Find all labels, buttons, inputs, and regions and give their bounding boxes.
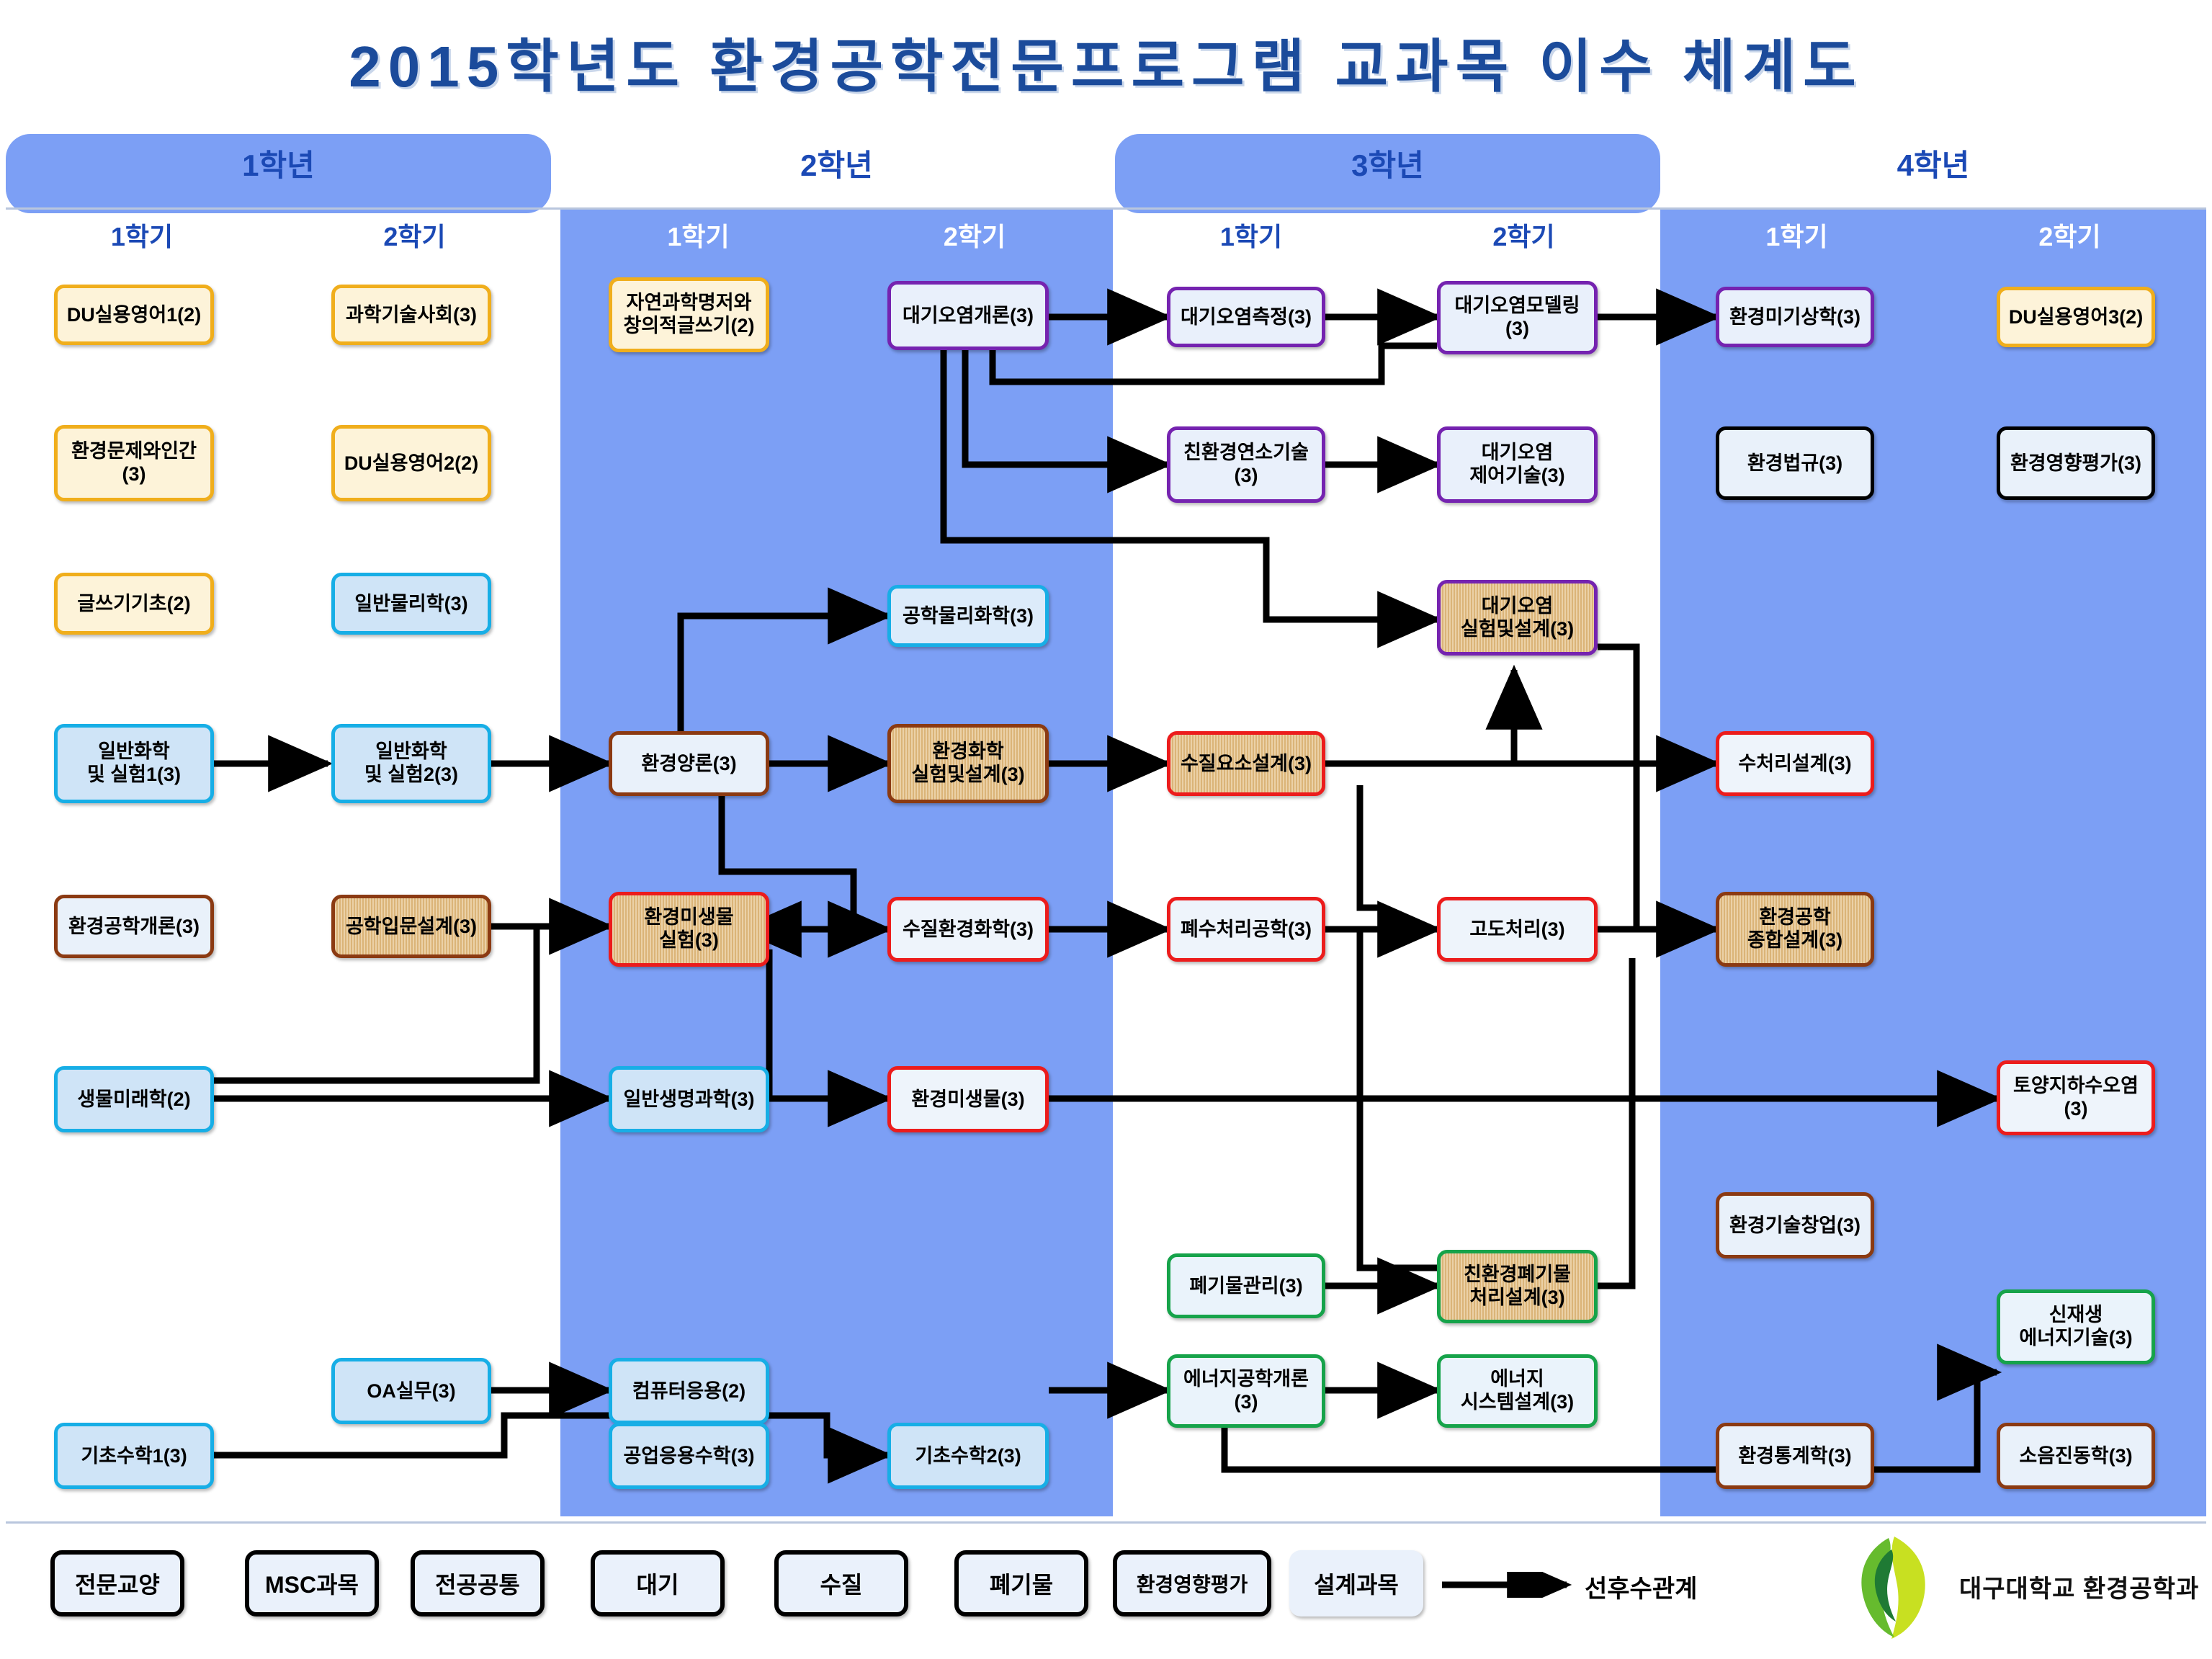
course-box[interactable]: 일반화학 및 실험1(3) bbox=[54, 724, 214, 803]
course-box[interactable]: 기초수학1(3) bbox=[54, 1423, 214, 1489]
course-box[interactable]: 일반화학 및 실험2(3) bbox=[331, 724, 491, 803]
legend-item-design[interactable]: 설계과목 bbox=[1289, 1550, 1423, 1616]
course-box[interactable]: 대기오염모델링 (3) bbox=[1437, 281, 1598, 354]
course-box[interactable]: 환경양론(3) bbox=[609, 731, 769, 796]
course-box[interactable]: 공업응용수학(3) bbox=[609, 1423, 769, 1489]
course-box[interactable]: 환경미생물(3) bbox=[887, 1066, 1049, 1132]
sem-label-y2s2: 2학기 bbox=[836, 216, 1113, 254]
legend-item-common[interactable]: 전공공통 bbox=[411, 1550, 545, 1616]
year-label-1: 1학년 bbox=[6, 141, 551, 185]
course-box[interactable]: 일반생명과학(3) bbox=[609, 1066, 769, 1132]
course-box[interactable]: 환경미기상학(3) bbox=[1716, 287, 1874, 347]
university-logo-text: 대구대학교 환경공학과 bbox=[1959, 1569, 2199, 1604]
course-box[interactable]: 대기오염 제어기술(3) bbox=[1437, 426, 1598, 503]
course-box[interactable]: 토양지하수오염 (3) bbox=[1997, 1060, 2155, 1135]
year-label-3: 3학년 bbox=[1115, 141, 1660, 185]
course-box[interactable]: 기초수학2(3) bbox=[887, 1423, 1049, 1489]
course-box[interactable]: 환경공학 종합설계(3) bbox=[1716, 892, 1874, 967]
course-box[interactable]: 수질환경화학(3) bbox=[887, 897, 1049, 962]
course-box[interactable]: 환경기술창업(3) bbox=[1716, 1192, 1874, 1258]
course-box[interactable]: 대기오염 실험및설계(3) bbox=[1437, 580, 1598, 656]
legend-item-air[interactable]: 대기 bbox=[591, 1550, 725, 1616]
course-box[interactable]: 수질요소설계(3) bbox=[1167, 731, 1325, 796]
course-box[interactable]: 소음진동학(3) bbox=[1997, 1423, 2155, 1489]
sem-label-y3s2: 2학기 bbox=[1387, 216, 1660, 254]
course-box[interactable]: 대기오염측정(3) bbox=[1167, 287, 1325, 347]
course-box[interactable]: 대기오염개론(3) bbox=[887, 281, 1049, 350]
course-box[interactable]: 에너지 시스템설계(3) bbox=[1437, 1354, 1598, 1428]
course-box[interactable]: 환경법규(3) bbox=[1716, 426, 1874, 500]
course-box[interactable]: DU실용영어2(2) bbox=[331, 425, 491, 501]
course-box[interactable]: 환경미생물 실험(3) bbox=[609, 892, 769, 967]
sem-label-y4s2: 2학기 bbox=[1933, 216, 2206, 254]
course-box[interactable]: 환경화학 실험및설계(3) bbox=[887, 724, 1049, 803]
course-box[interactable]: 과학기술사회(3) bbox=[331, 285, 491, 345]
course-box[interactable]: 폐수처리공학(3) bbox=[1167, 897, 1325, 962]
year-label-4: 4학년 bbox=[1660, 141, 2206, 185]
legend-arrow-label: 선후수관계 bbox=[1585, 1569, 1697, 1604]
course-box[interactable]: 일반물리학(3) bbox=[331, 573, 491, 635]
course-box[interactable]: 환경통계학(3) bbox=[1716, 1423, 1874, 1489]
course-box[interactable]: 에너지공학개론 (3) bbox=[1167, 1354, 1325, 1428]
curriculum-flowchart: 1학년 2학년 3학년 4학년 1학기 2학기 1학기 2학기 1학기 2학기 … bbox=[0, 0, 2212, 1659]
year-band-2 bbox=[560, 209, 1113, 1516]
legend-divider bbox=[6, 1521, 2206, 1524]
course-box[interactable]: 글쓰기기초(2) bbox=[54, 573, 214, 635]
legend-item-waste[interactable]: 폐기물 bbox=[954, 1550, 1088, 1616]
course-box[interactable]: DU실용영어1(2) bbox=[54, 285, 214, 345]
course-box[interactable]: 환경영향평가(3) bbox=[1997, 426, 2155, 500]
university-logo-icon bbox=[1844, 1534, 1945, 1642]
legend-item-gyoyang[interactable]: 전문교양 bbox=[50, 1550, 184, 1616]
legend-item-water[interactable]: 수질 bbox=[774, 1550, 908, 1616]
sem-label-y4s1: 1학기 bbox=[1660, 216, 1933, 254]
sem-label-y1s1: 1학기 bbox=[6, 216, 278, 254]
course-box[interactable]: 자연과학명저와 창의적글쓰기(2) bbox=[609, 277, 769, 352]
course-box[interactable]: 고도처리(3) bbox=[1437, 897, 1598, 962]
course-box[interactable]: 친환경연소기술 (3) bbox=[1167, 426, 1325, 503]
header-divider bbox=[6, 207, 2206, 210]
course-box[interactable]: 공학물리화학(3) bbox=[887, 585, 1049, 647]
course-box[interactable]: 생물미래학(2) bbox=[54, 1066, 214, 1132]
legend-item-msc[interactable]: MSC과목 bbox=[245, 1550, 379, 1616]
course-box[interactable]: 환경공학개론(3) bbox=[54, 895, 214, 958]
course-box[interactable]: 폐기물관리(3) bbox=[1167, 1253, 1325, 1318]
course-box[interactable]: 환경문제와인간 (3) bbox=[54, 425, 214, 501]
page-title: 2015학년도 환경공학전문프로그램 교과목 이수 체계도 bbox=[0, 20, 2212, 104]
sem-label-y2s1: 1학기 bbox=[560, 216, 836, 254]
sem-label-y1s2: 2학기 bbox=[278, 216, 551, 254]
year-label-2: 2학년 bbox=[560, 141, 1113, 185]
course-box[interactable]: 수처리설계(3) bbox=[1716, 731, 1874, 796]
course-box[interactable]: 친환경폐기물 처리설계(3) bbox=[1437, 1250, 1598, 1323]
course-box[interactable]: OA실무(3) bbox=[331, 1358, 491, 1424]
legend-arrow-icon bbox=[1441, 1572, 1577, 1598]
legend: 전문교양 MSC과목 전공공통 대기 수질 폐기물 환경영향평가 설계과목 선후… bbox=[0, 1530, 2212, 1653]
course-box[interactable]: 컴퓨터응용(2) bbox=[609, 1358, 769, 1424]
course-box[interactable]: DU실용영어3(2) bbox=[1997, 287, 2155, 347]
course-box[interactable]: 신재생 에너지기술(3) bbox=[1997, 1289, 2155, 1364]
sem-label-y3s1: 1학기 bbox=[1115, 216, 1387, 254]
course-box[interactable]: 공학입문설계(3) bbox=[331, 895, 491, 958]
legend-item-eia[interactable]: 환경영향평가 bbox=[1113, 1550, 1271, 1616]
